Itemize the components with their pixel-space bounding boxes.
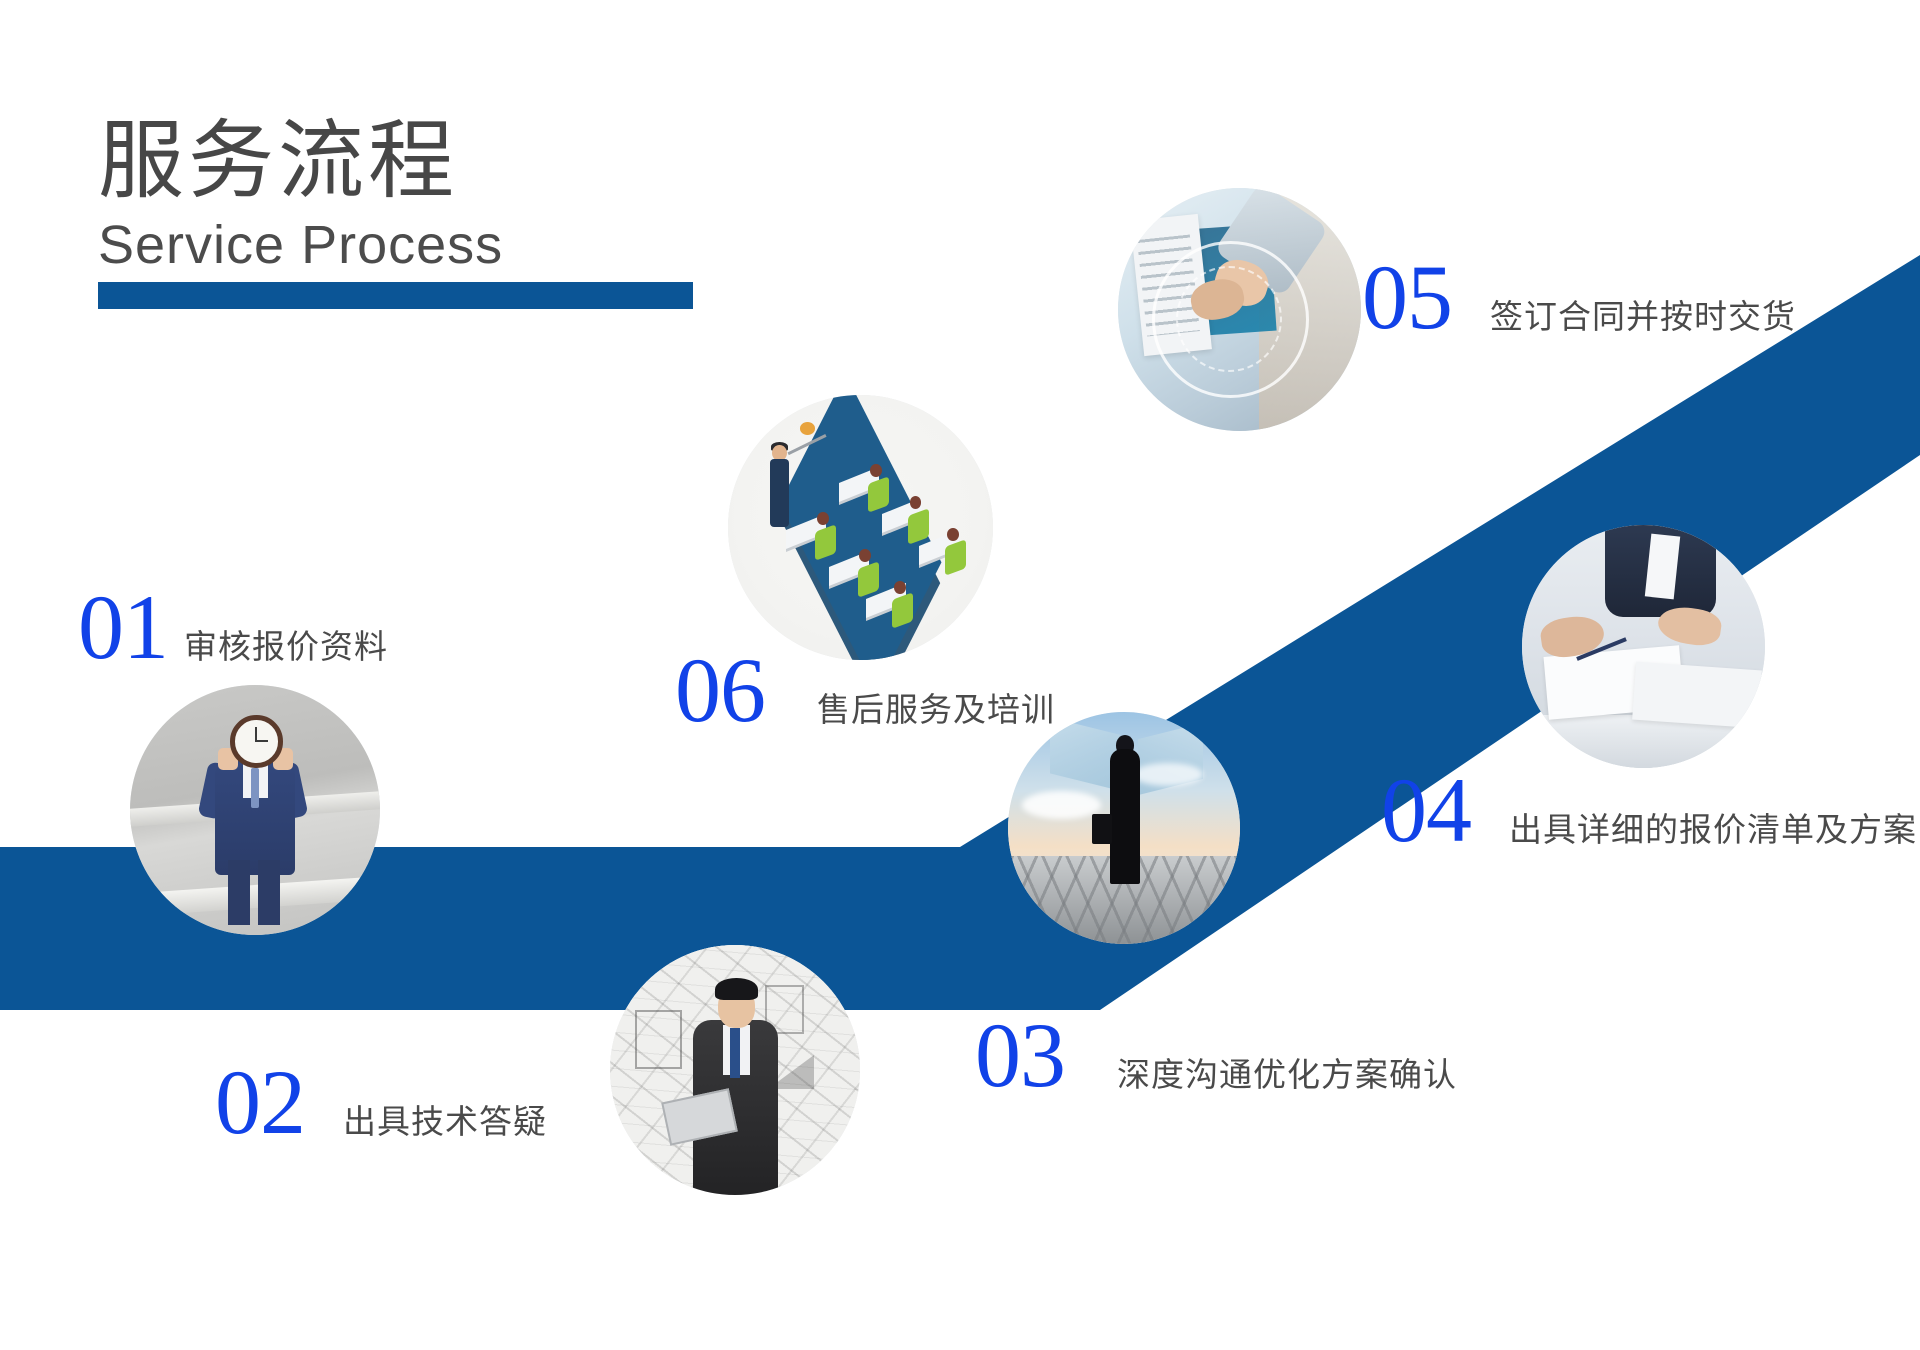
step-number-02: 02	[215, 1060, 305, 1145]
page-title-en: Service Process	[98, 218, 693, 272]
step-label-04: 04 出具详细的报价清单及方案	[1381, 768, 1917, 853]
step-number-01: 01	[78, 585, 168, 670]
title-underline-bar	[98, 282, 693, 309]
service-process-slide: 服务流程 Service Process	[0, 0, 1920, 1350]
step-label-01: 01 审核报价资料	[78, 585, 388, 670]
step-label-05: 05 签订合同并按时交货	[1362, 255, 1796, 340]
step-text-06: 售后服务及培训	[817, 693, 1055, 726]
step-image-04	[1522, 525, 1765, 768]
step-text-05: 签订合同并按时交货	[1490, 300, 1796, 333]
page-title-cn: 服务流程	[98, 118, 693, 204]
businessman-walking-skywalk-photo	[1008, 712, 1240, 944]
step-image-05	[1118, 188, 1361, 431]
isometric-training-classroom-illustration	[728, 395, 993, 660]
hands-reviewing-documents-photo	[1522, 525, 1765, 768]
handshake-technology-hud-photo	[1118, 188, 1361, 431]
step-number-06: 06	[675, 648, 765, 733]
step-text-03: 深度沟通优化方案确认	[1117, 1058, 1457, 1091]
step-label-03: 03 深度沟通优化方案确认	[975, 1013, 1457, 1098]
step-number-04: 04	[1381, 768, 1471, 853]
step-label-06: 06 售后服务及培训	[675, 648, 1055, 733]
step-image-01	[130, 685, 380, 935]
step-image-06	[728, 395, 993, 660]
step-image-03	[1008, 712, 1240, 944]
step-label-02: 02 出具技术答疑	[215, 1060, 547, 1145]
page-header: 服务流程 Service Process	[98, 118, 693, 309]
businessman-with-laptop-blackboard-photo	[610, 945, 860, 1195]
step-text-02: 出具技术答疑	[343, 1105, 547, 1138]
step-image-02	[610, 945, 860, 1195]
step-number-05: 05	[1362, 255, 1452, 340]
step-number-03: 03	[975, 1013, 1065, 1098]
businessman-holding-clock-photo	[130, 685, 380, 935]
step-text-01: 审核报价资料	[184, 630, 388, 663]
step-text-04: 出具详细的报价清单及方案	[1509, 813, 1917, 846]
